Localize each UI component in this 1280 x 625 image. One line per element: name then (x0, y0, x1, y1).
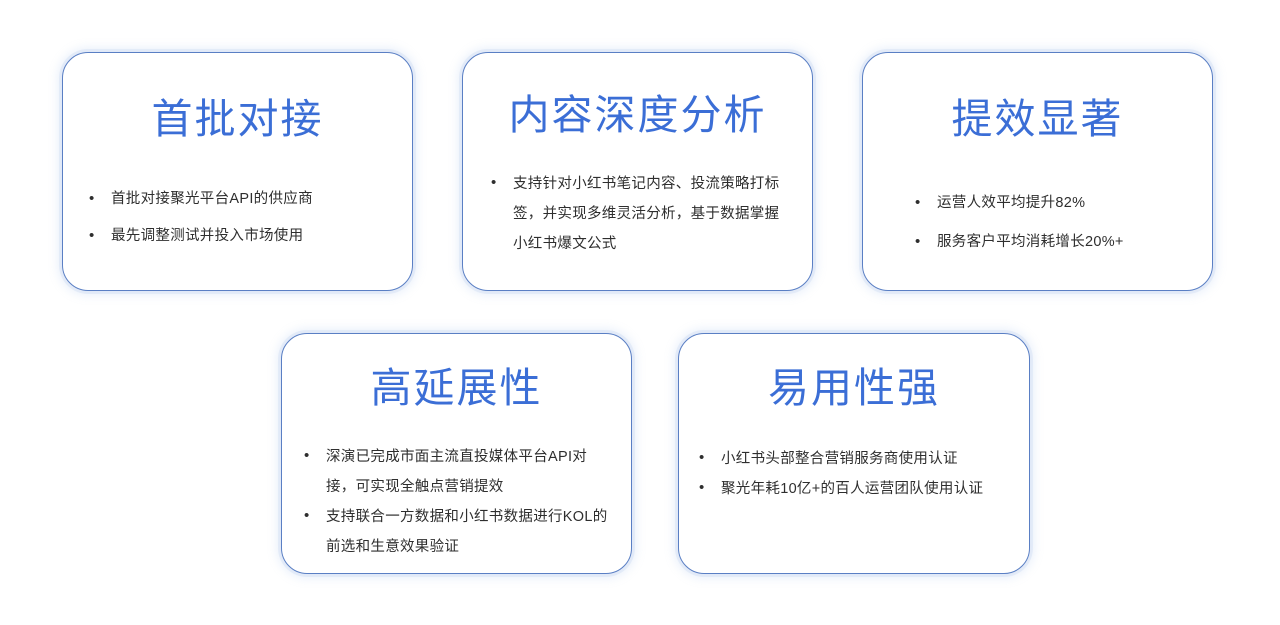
bullet-dot-icon: • (304, 442, 326, 470)
feature-cards-slide: 首批对接 • 首批对接聚光平台API的供应商 • 最先调整测试并投入市场使用 内… (0, 0, 1280, 625)
bullet-dot-icon: • (915, 189, 937, 217)
card-bullet-list: • 深演已完成市面主流直投媒体平台API对接，可实现全触点营销提效 • 支持联合… (282, 442, 631, 562)
bullet-dot-icon: • (304, 502, 326, 530)
list-item: • 支持联合一方数据和小红书数据进行KOL的前选和生意效果验证 (304, 502, 613, 562)
list-item: • 最先调整测试并投入市场使用 (89, 222, 396, 250)
card-title: 首批对接 (152, 97, 324, 143)
bullet-text: 服务客户平均消耗增长20%+ (937, 228, 1196, 256)
list-item: • 首批对接聚光平台API的供应商 (89, 185, 396, 213)
card-bullet-list: • 首批对接聚光平台API的供应商 • 最先调整测试并投入市场使用 (63, 185, 412, 259)
card-bullet-list: • 小红书头部整合营销服务商使用认证 • 聚光年耗10亿+的百人运营团队使用认证 (679, 444, 1029, 504)
bullet-dot-icon: • (699, 474, 721, 502)
bullet-text: 首批对接聚光平台API的供应商 (111, 185, 396, 213)
list-item: • 运营人效平均提升82% (915, 189, 1196, 217)
feature-card-yiyongxing-qiang[interactable]: 易用性强 • 小红书头部整合营销服务商使用认证 • 聚光年耗10亿+的百人运营团… (678, 333, 1030, 574)
list-item: • 支持针对小红书笔记内容、投流策略打标签，并实现多维灵活分析，基于数据掌握小红… (491, 169, 792, 259)
bullet-text: 聚光年耗10亿+的百人运营团队使用认证 (721, 474, 1011, 504)
card-title: 内容深度分析 (509, 93, 767, 139)
list-item: • 小红书头部整合营销服务商使用认证 (699, 444, 1011, 474)
bullet-text: 支持针对小红书笔记内容、投流策略打标签，并实现多维灵活分析，基于数据掌握小红书爆… (513, 169, 792, 259)
bullet-dot-icon: • (89, 222, 111, 250)
bullet-dot-icon: • (915, 228, 937, 256)
bullet-text: 最先调整测试并投入市场使用 (111, 222, 396, 250)
card-title: 高延展性 (371, 366, 543, 412)
list-item: • 聚光年耗10亿+的百人运营团队使用认证 (699, 474, 1011, 504)
list-item: • 服务客户平均消耗增长20%+ (915, 228, 1196, 256)
bullet-dot-icon: • (491, 169, 513, 197)
list-item: • 深演已完成市面主流直投媒体平台API对接，可实现全触点营销提效 (304, 442, 613, 502)
bullet-dot-icon: • (89, 185, 111, 213)
card-bullet-list: • 支持针对小红书笔记内容、投流策略打标签，并实现多维灵活分析，基于数据掌握小红… (463, 169, 812, 259)
bullet-text: 小红书头部整合营销服务商使用认证 (721, 444, 1011, 474)
feature-card-gao-yanzhanxing[interactable]: 高延展性 • 深演已完成市面主流直投媒体平台API对接，可实现全触点营销提效 •… (281, 333, 632, 574)
card-title: 提效显著 (952, 97, 1124, 143)
feature-card-tixiao-xianzhu[interactable]: 提效显著 • 运营人效平均提升82% • 服务客户平均消耗增长20%+ (862, 52, 1213, 291)
feature-card-shoupi-duijie[interactable]: 首批对接 • 首批对接聚光平台API的供应商 • 最先调整测试并投入市场使用 (62, 52, 413, 291)
bullet-dot-icon: • (699, 444, 721, 472)
card-title: 易用性强 (768, 366, 940, 412)
card-bullet-list: • 运营人效平均提升82% • 服务客户平均消耗增长20%+ (863, 189, 1212, 267)
bullet-text: 支持联合一方数据和小红书数据进行KOL的前选和生意效果验证 (326, 502, 613, 562)
bullet-text: 运营人效平均提升82% (937, 189, 1196, 217)
feature-card-neirong-shendu-fenxi[interactable]: 内容深度分析 • 支持针对小红书笔记内容、投流策略打标签，并实现多维灵活分析，基… (462, 52, 813, 291)
bullet-text: 深演已完成市面主流直投媒体平台API对接，可实现全触点营销提效 (326, 442, 613, 502)
